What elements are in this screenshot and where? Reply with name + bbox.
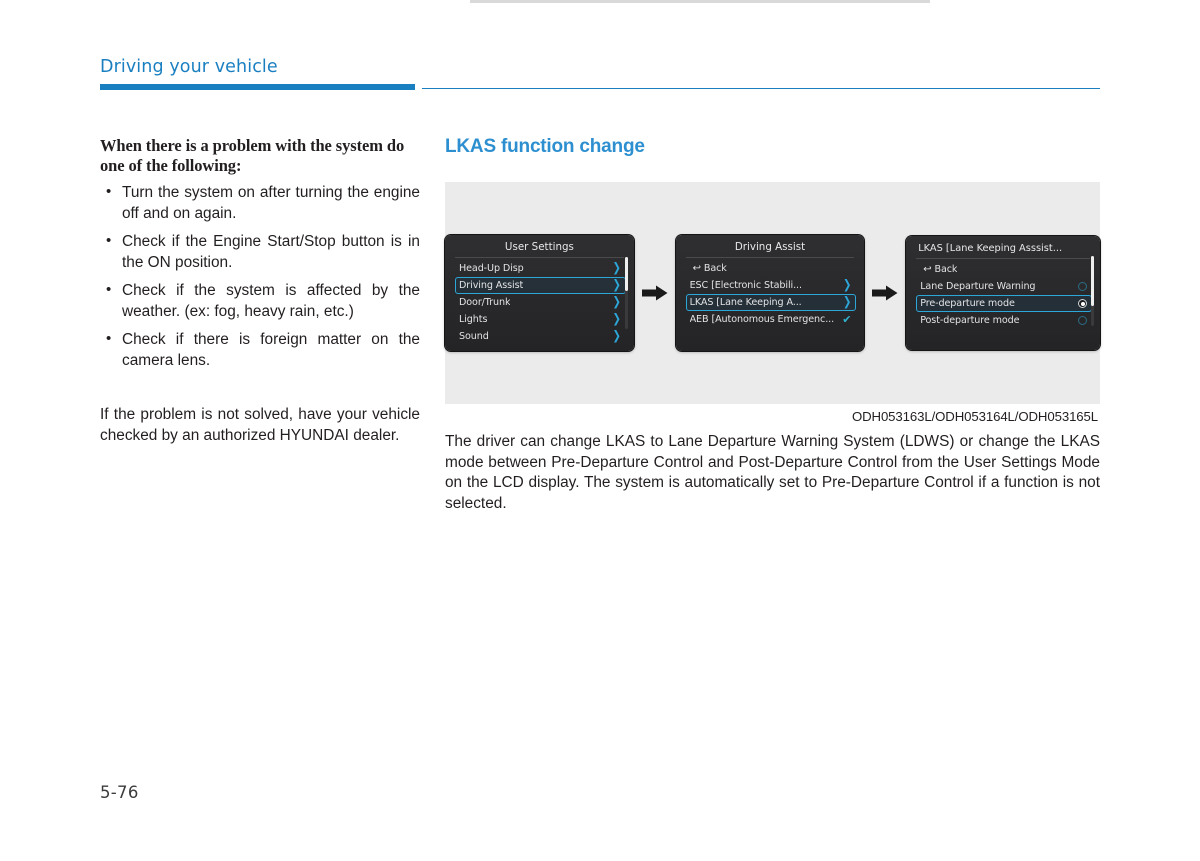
menu-item-label: ESC [Electronic Stabili...: [690, 280, 802, 291]
running-header: Driving your vehicle: [100, 56, 1100, 78]
lcd-menu-list: ↩Back Lane Departure Warning Pre-departu…: [906, 261, 1100, 329]
chevron-right-icon: ❯: [612, 330, 620, 343]
page-number: 5-76: [100, 783, 139, 802]
flow-arrow-2: [864, 285, 906, 301]
menu-item-label: Pre-departure mode: [920, 298, 1015, 309]
lcd-scrollbar[interactable]: [1091, 256, 1094, 326]
menu-item-door-trunk[interactable]: Door/Trunk ❯: [455, 294, 626, 311]
lcd-screen-user-settings: User Settings Head-Up Disp ❯ Driving Ass…: [445, 235, 634, 351]
lead-heading: When there is a problem with the system …: [100, 136, 420, 176]
menu-item-label: Head-Up Disp: [459, 263, 524, 274]
menu-item-pre-departure-mode[interactable]: Pre-departure mode: [916, 295, 1092, 312]
menu-item-label: Lane Departure Warning: [920, 281, 1035, 292]
lcd-screen-lkas: LKAS [Lane Keeping Asssist... ↩Back Lane…: [906, 236, 1100, 350]
menu-item-esc[interactable]: ESC [Electronic Stabili... ❯: [686, 277, 857, 294]
menu-item-lane-departure-warning[interactable]: Lane Departure Warning: [916, 278, 1092, 295]
left-column: When there is a problem with the system …: [100, 136, 420, 446]
list-item: Check if the Engine Start/Stop button is…: [100, 232, 420, 273]
paragraph-spacer: [100, 379, 420, 405]
chevron-right-icon: ❯: [612, 296, 620, 309]
menu-item-label: Sound: [459, 331, 489, 342]
list-item: Turn the system on after turning the eng…: [100, 183, 420, 224]
lcd-title: Driving Assist: [676, 241, 865, 257]
menu-item-label: Post-departure mode: [920, 315, 1019, 326]
menu-item-post-departure-mode[interactable]: Post-departure mode: [916, 312, 1092, 329]
header-rule-thick: [100, 84, 415, 90]
lcd-menu-list: Head-Up Disp ❯ Driving Assist ❯ Door/Tru…: [445, 260, 634, 345]
flow-arrow-1: [634, 285, 676, 301]
lcd-menu-list: ↩Back ESC [Electronic Stabili... ❯ LKAS …: [676, 260, 865, 328]
lcd-title-divider: [916, 258, 1090, 259]
back-label: Back: [934, 264, 957, 275]
lcd-screen-driving-assist: Driving Assist ↩Back ESC [Electronic Sta…: [676, 235, 865, 351]
chevron-right-icon: ❯: [843, 296, 851, 309]
lkas-description-paragraph: The driver can change LKAS to Lane Depar…: [445, 432, 1100, 514]
section-heading: LKAS function change: [445, 136, 1100, 158]
menu-item-label: ↩Back: [690, 263, 727, 274]
right-column: LKAS function change User Settings Head-…: [445, 136, 1100, 514]
checkmark-icon: ✔: [842, 314, 851, 325]
lcd-screens-row: User Settings Head-Up Disp ❯ Driving Ass…: [445, 182, 1100, 404]
chevron-right-icon: ❯: [612, 262, 620, 275]
lkas-menu-figure: User Settings Head-Up Disp ❯ Driving Ass…: [445, 182, 1100, 404]
header-rule-thin: [422, 88, 1100, 89]
closing-paragraph: If the problem is not solved, have your …: [100, 405, 420, 446]
troubleshooting-bullet-list: Turn the system on after turning the eng…: [100, 183, 420, 371]
lcd-title-divider: [686, 257, 855, 258]
menu-item-lights[interactable]: Lights ❯: [455, 311, 626, 328]
lcd-title-divider: [455, 257, 624, 258]
chapter-title: Driving your vehicle: [100, 56, 1100, 78]
back-label: Back: [704, 263, 727, 274]
menu-item-aeb[interactable]: AEB [Autonomous Emergenc... ✔: [686, 311, 857, 328]
menu-item-label: Lights: [459, 314, 487, 325]
menu-item-driving-assist[interactable]: Driving Assist ❯: [455, 277, 626, 294]
lcd-title: User Settings: [445, 241, 634, 257]
list-item: Check if the system is affected by the w…: [100, 281, 420, 322]
menu-item-back[interactable]: ↩Back: [916, 261, 1092, 278]
menu-item-back[interactable]: ↩Back: [686, 260, 857, 277]
menu-item-label: Driving Assist: [459, 280, 523, 291]
right-arrow-icon: [642, 285, 668, 301]
radio-button-off-icon[interactable]: [1078, 282, 1087, 291]
menu-item-lkas[interactable]: LKAS [Lane Keeping A... ❯: [686, 294, 857, 311]
menu-item-label: Door/Trunk: [459, 297, 510, 308]
figure-caption: ODH053163L/ODH053164L/ODH053165L: [852, 409, 1098, 424]
menu-item-label: LKAS [Lane Keeping A...: [690, 297, 802, 308]
chevron-right-icon: ❯: [843, 279, 851, 292]
radio-button-on-icon[interactable]: [1078, 299, 1087, 308]
chevron-right-icon: ❯: [612, 313, 620, 326]
chevron-right-icon: ❯: [612, 279, 620, 292]
lcd-scrollbar[interactable]: [625, 257, 628, 329]
list-item: Check if there is foreign matter on the …: [100, 330, 420, 371]
lcd-scrollbar-thumb[interactable]: [1091, 256, 1094, 306]
back-arrow-icon: ↩: [693, 264, 701, 274]
back-arrow-icon: ↩: [923, 265, 931, 275]
crop-mark-bar: [470, 0, 930, 3]
lcd-title: LKAS [Lane Keeping Asssist...: [906, 242, 1100, 258]
lcd-scrollbar-thumb[interactable]: [625, 257, 628, 291]
menu-item-sound[interactable]: Sound ❯: [455, 328, 626, 345]
menu-item-label: AEB [Autonomous Emergenc...: [690, 314, 834, 325]
menu-item-label: ↩Back: [920, 264, 957, 275]
menu-item-head-up-disp[interactable]: Head-Up Disp ❯: [455, 260, 626, 277]
right-arrow-icon: [872, 285, 898, 301]
radio-button-off-icon[interactable]: [1078, 316, 1087, 325]
header-rule-group: [100, 84, 1100, 92]
